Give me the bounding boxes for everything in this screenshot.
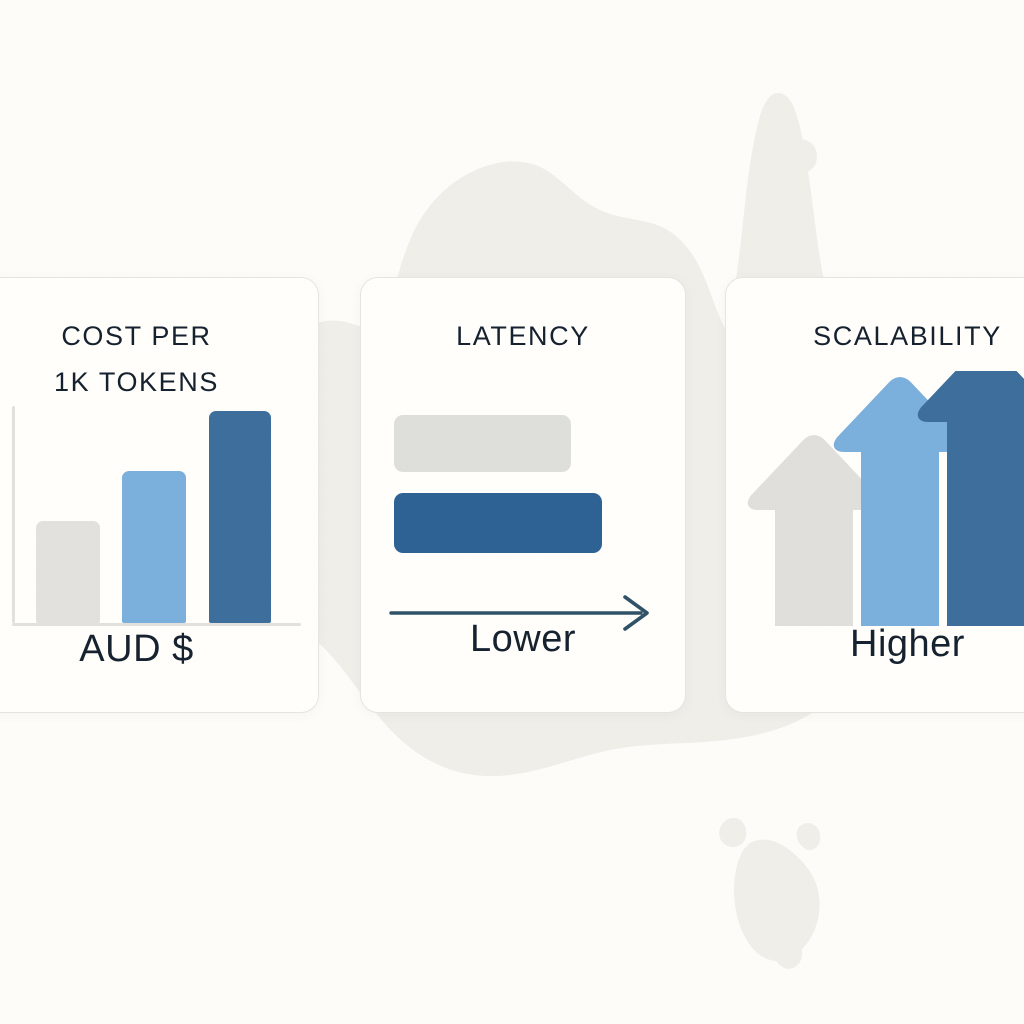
card-scalability[interactable]: SCALABILITY Higher [725, 277, 1024, 713]
bar-tier-3 [209, 411, 271, 623]
card-scalability-footer-label: Higher [726, 623, 1024, 666]
up-arrow-icon-small [752, 439, 877, 626]
infographic-canvas: COST PER 1K TOKENS AUD $ LATENCY Lower S… [0, 0, 1024, 1024]
card-latency-title: LATENCY [361, 313, 685, 359]
card-scalability-title: SCALABILITY [726, 313, 1024, 359]
card-cost-footer-label: AUD $ [0, 628, 318, 671]
card-latency[interactable]: LATENCY Lower [360, 277, 686, 713]
card-latency-footer-label: Lower [361, 618, 685, 661]
latency-bar-optimised [394, 493, 602, 553]
card-cost-per-1k-tokens[interactable]: COST PER 1K TOKENS AUD $ [0, 277, 319, 713]
bar-tier-2 [122, 471, 186, 623]
chart-y-axis [12, 406, 15, 623]
card-cost-title: COST PER 1K TOKENS [0, 313, 318, 405]
card-cost-title-line1: COST PER [0, 313, 318, 359]
card-cost-title-line2: 1K TOKENS [0, 359, 318, 405]
cost-bar-chart [1, 406, 301, 626]
scalability-arrow-chart [736, 371, 1024, 626]
bar-tier-1 [36, 521, 100, 623]
chart-x-axis [12, 623, 301, 626]
latency-bar-baseline [394, 415, 571, 472]
